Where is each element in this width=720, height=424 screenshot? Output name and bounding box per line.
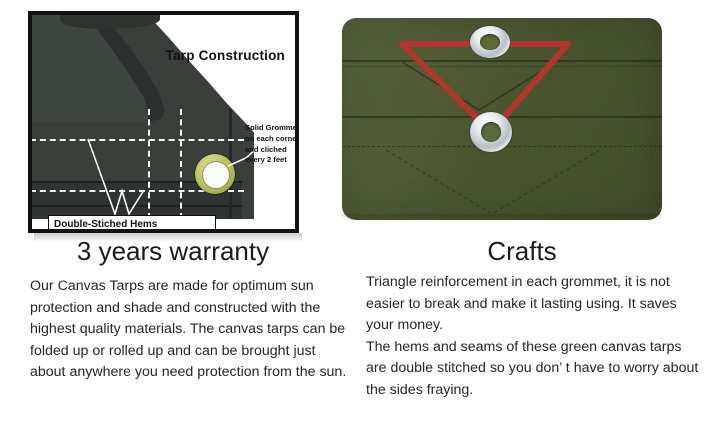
grommet-middle-center: [470, 112, 512, 152]
product-feature-page: Tarp Construction Solid Grommets on each…: [0, 0, 720, 424]
grommet-top-center: [470, 26, 510, 58]
right-body-text: Triangle reinforcement in each grommet, …: [366, 272, 700, 401]
photo-drop-shadow: [342, 214, 662, 222]
hems-callout-label: Double-Stiched Hems: [54, 219, 214, 230]
diagram-title: Tarp Construction: [166, 48, 285, 63]
tarp-construction-diagram: Tarp Construction Solid Grommets on each…: [28, 11, 299, 233]
left-panel: Tarp Construction Solid Grommets on each…: [0, 0, 352, 424]
green-tarp-photo: [342, 18, 662, 220]
right-panel: Crafts Triangle reinforcement in each gr…: [352, 0, 720, 424]
left-heading: 3 years warranty: [0, 236, 346, 267]
grommet-callout-label: Solid Grommets on each corner and cliche…: [245, 123, 299, 166]
right-heading: Crafts: [352, 236, 692, 267]
left-body-text: Our Canvas Tarps are made for optimum su…: [30, 276, 348, 384]
